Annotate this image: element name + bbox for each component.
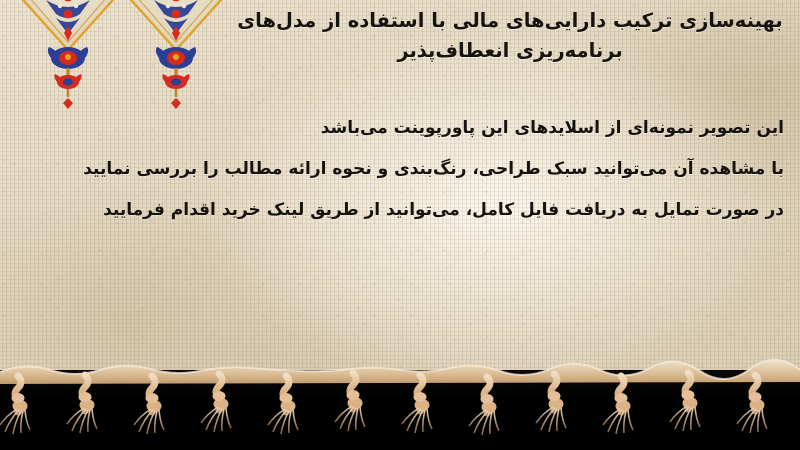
slide-title: بهینه‌سازی ترکیب دارایی‌های مالی با استف… — [234, 6, 786, 66]
slide-body-text: این تصویر نمونه‌ای از اسلایدهای این پاور… — [16, 108, 784, 231]
slide-canvas: بهینه‌سازی ترکیب دارایی‌های مالی با استف… — [0, 0, 800, 450]
slide-title-line-1: بهینه‌سازی ترکیب دارایی‌های مالی با استف… — [234, 6, 786, 36]
fringe-tassels-graphic — [0, 358, 800, 450]
carpet-fringe — [0, 358, 800, 450]
body-line-2: با مشاهده آن می‌توانید سبک طراحی، رنگ‌بن… — [16, 149, 784, 190]
body-line-1: این تصویر نمونه‌ای از اسلایدهای این پاور… — [16, 108, 784, 149]
body-line-3: در صورت تمایل به دریافت فایل کامل، می‌تو… — [16, 190, 784, 231]
slide-title-line-2: برنامه‌ریزی انعطاف‌پذیر — [234, 36, 786, 66]
